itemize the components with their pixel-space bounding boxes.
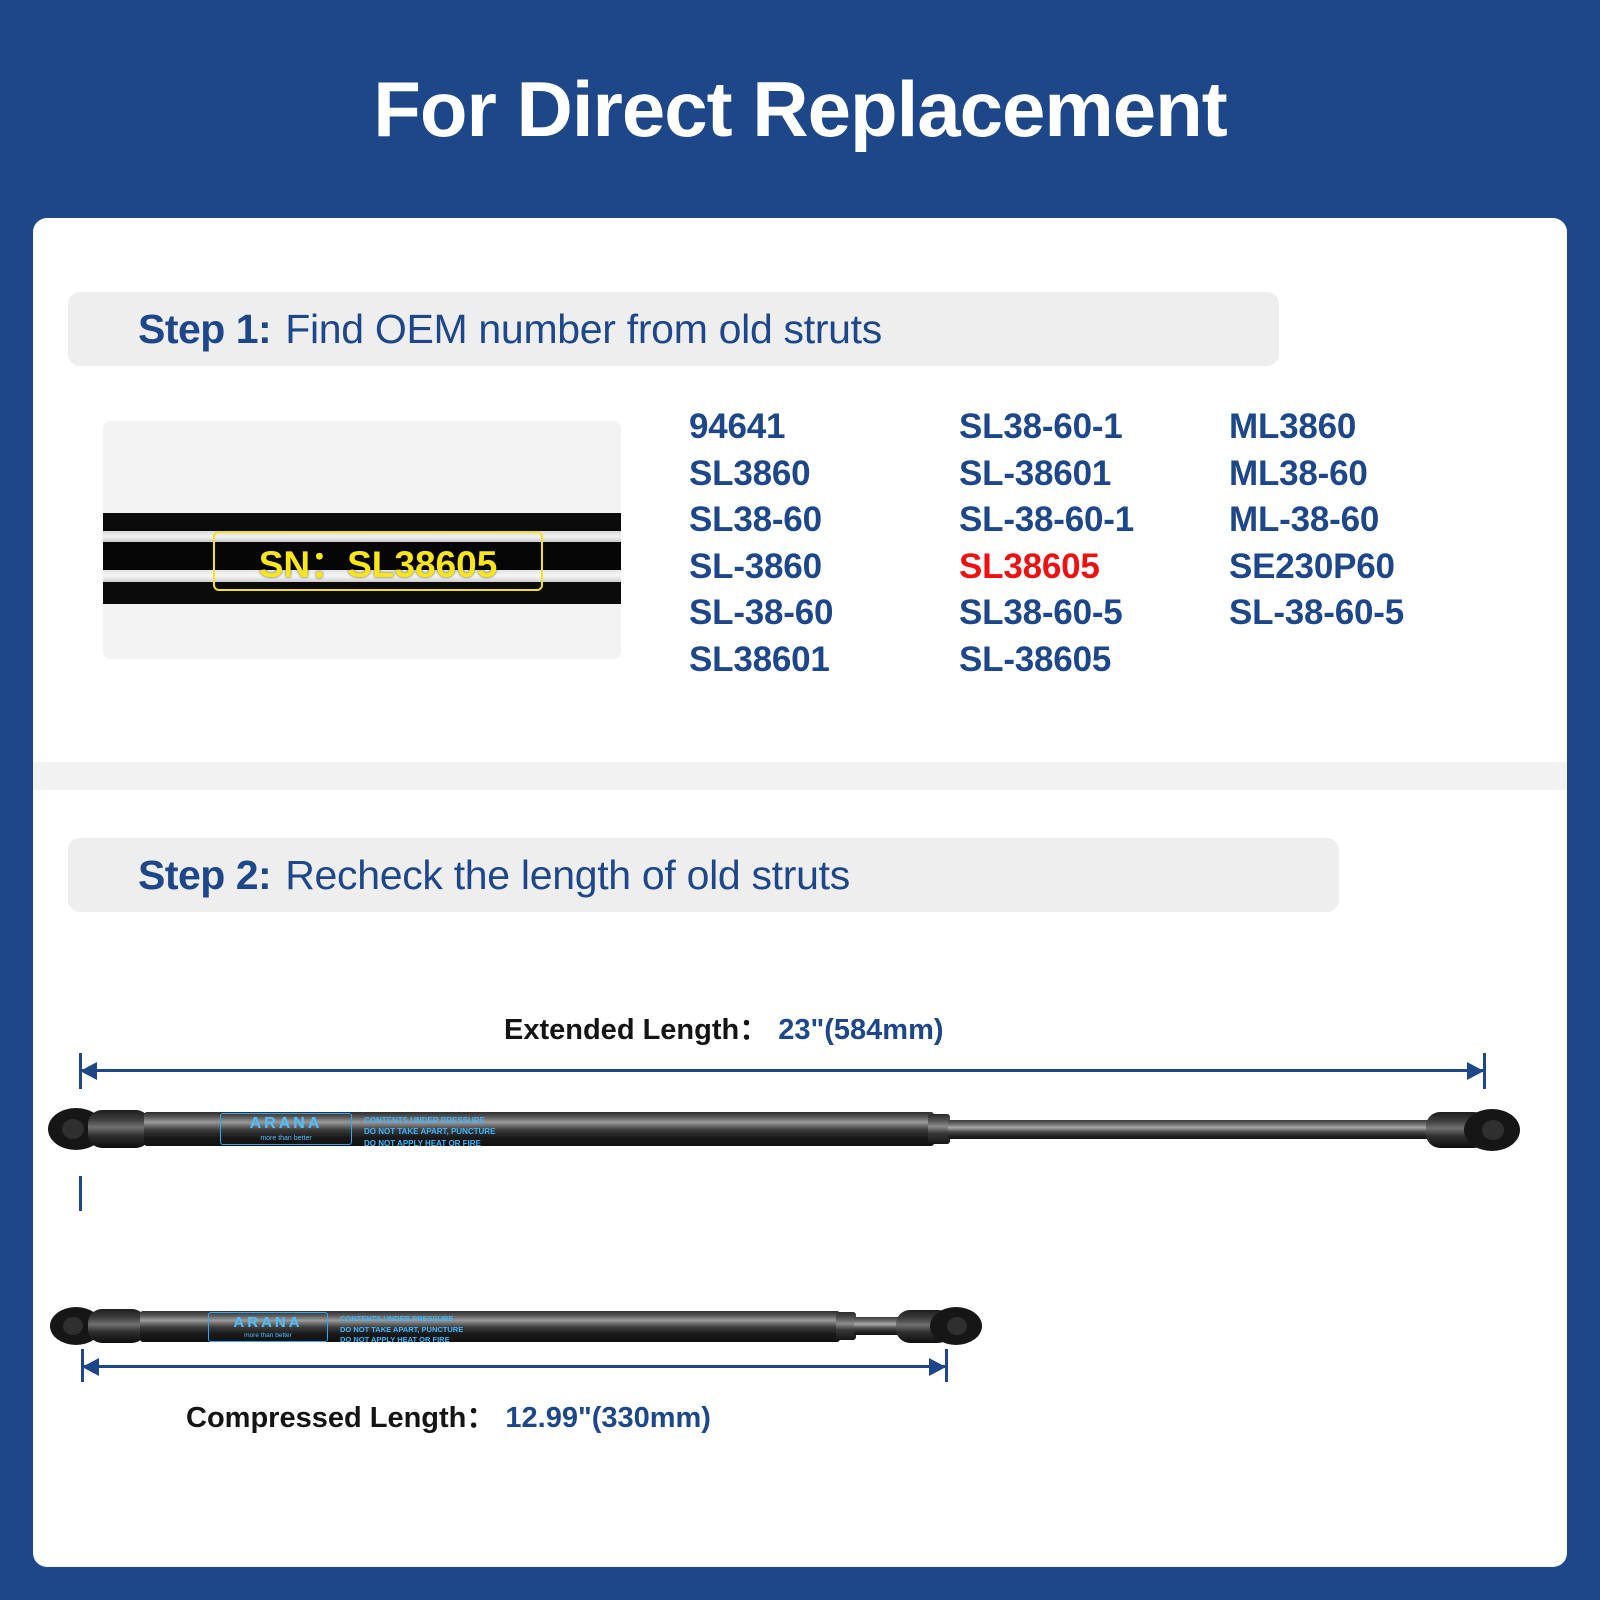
- step-1-label: Step 1:: [138, 306, 271, 353]
- warning-line-2: DO NOT TAKE APART, PUNCTURE: [364, 1126, 495, 1137]
- oem-number: SE230P60: [1229, 544, 1499, 591]
- warning-line-3: DO NOT APPLY HEAT OR FIRE: [364, 1138, 495, 1149]
- compressed-warning-line-3: DO NOT APPLY HEAT OR FIRE: [340, 1335, 463, 1346]
- compressed-strut-brand-plate: ARANA more than better: [208, 1312, 328, 1342]
- strut-brand-plate: ARANA more than better: [220, 1113, 352, 1145]
- extended-arrow-right-icon: [1467, 1062, 1484, 1080]
- compressed-strut-right-eyelet-hole: [947, 1317, 967, 1335]
- brand-tagline-text: more than better: [260, 1135, 311, 1142]
- strut-piston-rod: [948, 1120, 1450, 1139]
- extended-arrow-left-icon: [80, 1062, 97, 1080]
- brand-name-text: ARANA: [250, 1116, 323, 1132]
- compressed-arrow-right-icon: [929, 1358, 946, 1376]
- oem-number: SL3860: [689, 451, 959, 498]
- compressed-tick-right: [945, 1349, 948, 1382]
- oem-number: ML38-60: [1229, 451, 1499, 498]
- serial-number-text: SN：SL38605: [259, 534, 498, 588]
- oem-column-1: 94641 SL3860 SL38-60 SL-3860 SL-38-60 SL…: [689, 404, 959, 683]
- oem-number: SL-38601: [959, 451, 1229, 498]
- oem-number-list: 94641 SL3860 SL38-60 SL-3860 SL-38-60 SL…: [689, 404, 1499, 683]
- compressed-warning-line-2: DO NOT TAKE APART, PUNCTURE: [340, 1325, 463, 1336]
- extended-length-caption: Extended Length：23"(584mm): [504, 1006, 944, 1048]
- serial-number-callout: SN：SL38605: [213, 531, 543, 591]
- oem-number: SL38-60: [689, 497, 959, 544]
- extended-tick-left: [79, 1053, 82, 1089]
- oem-number: SL-38-60: [689, 590, 959, 637]
- step-1-text: Find OEM number from old struts: [285, 306, 882, 353]
- extended-length-value: 23"(584mm): [778, 1014, 943, 1046]
- oem-column-2: SL38-60-1 SL-38601 SL-38-60-1 SL38605 SL…: [959, 404, 1229, 683]
- step-2-text: Recheck the length of old struts: [285, 852, 850, 899]
- compressed-strut-left-shoulder: [88, 1309, 146, 1343]
- extended-tick-right: [1483, 1053, 1486, 1089]
- gas-strut-extended: ARANA more than better CONTENTS UNDER PR…: [48, 1095, 1520, 1163]
- infographic-page: For Direct Replacement Step 1: Find OEM …: [0, 0, 1600, 1600]
- compressed-warning-line-1: CONTENTS UNDER PRESSURE: [340, 1314, 463, 1325]
- compressed-strut-warning-text: CONTENTS UNDER PRESSURE DO NOT TAKE APAR…: [340, 1314, 463, 1346]
- strut-surface-band-top: [103, 513, 621, 531]
- oem-number: SL38601: [689, 637, 959, 684]
- compressed-length-label: Compressed Length：: [186, 1402, 495, 1434]
- compressed-length-value: 12.99"(330mm): [505, 1402, 711, 1434]
- strut-left-shoulder: [88, 1110, 150, 1148]
- compressed-strut-left-eyelet-hole: [63, 1317, 83, 1335]
- oem-number: 94641: [689, 404, 959, 451]
- step-1-header: Step 1: Find OEM number from old struts: [68, 292, 1279, 366]
- compressed-arrow-left-icon: [82, 1358, 99, 1376]
- compressed-brand-tagline-text: more than better: [244, 1333, 292, 1340]
- compressed-strut-collar: [836, 1312, 856, 1340]
- strut-warning-text: CONTENTS UNDER PRESSURE DO NOT TAKE APAR…: [364, 1115, 495, 1149]
- section-divider: [33, 762, 1567, 790]
- oem-label-photo: SN：SL38605: [103, 421, 621, 659]
- warning-line-1: CONTENTS UNDER PRESSURE: [364, 1115, 495, 1126]
- oem-number: SL38-60-1: [959, 404, 1229, 451]
- step-2-header: Step 2: Recheck the length of old struts: [68, 838, 1339, 912]
- oem-number: SL-38-60-1: [959, 497, 1229, 544]
- oem-number: SL-3860: [689, 544, 959, 591]
- extended-length-label: Extended Length：: [504, 1014, 768, 1046]
- compressed-brand-name-text: ARANA: [233, 1315, 302, 1330]
- strut-right-eyelet-hole: [1482, 1120, 1504, 1140]
- oem-number: SL38-60-5: [959, 590, 1229, 637]
- strut-left-eyelet-hole: [62, 1119, 84, 1139]
- step-2-label: Step 2:: [138, 852, 271, 899]
- strut-collar: [928, 1114, 950, 1144]
- header-banner: For Direct Replacement: [0, 0, 1600, 218]
- oem-number: ML3860: [1229, 404, 1499, 451]
- oem-number: SL-38-60-5: [1229, 590, 1499, 637]
- oem-number: ML-38-60: [1229, 497, 1499, 544]
- extended-dimension-line: [80, 1069, 1484, 1072]
- compressed-dimension-line: [82, 1365, 946, 1368]
- compressed-tick-left: [81, 1349, 84, 1382]
- oem-number: SL-38605: [959, 637, 1229, 684]
- gas-strut-compressed: ARANA more than better CONTENTS UNDER PR…: [50, 1295, 982, 1357]
- oem-number-highlighted: SL38605: [959, 544, 1229, 591]
- oem-column-3: ML3860 ML38-60 ML-38-60 SE230P60 SL-38-6…: [1229, 404, 1499, 683]
- page-title: For Direct Replacement: [373, 64, 1227, 155]
- extended-tick-left-lower: [79, 1176, 82, 1211]
- compressed-length-caption: Compressed Length：12.99"(330mm): [186, 1394, 711, 1436]
